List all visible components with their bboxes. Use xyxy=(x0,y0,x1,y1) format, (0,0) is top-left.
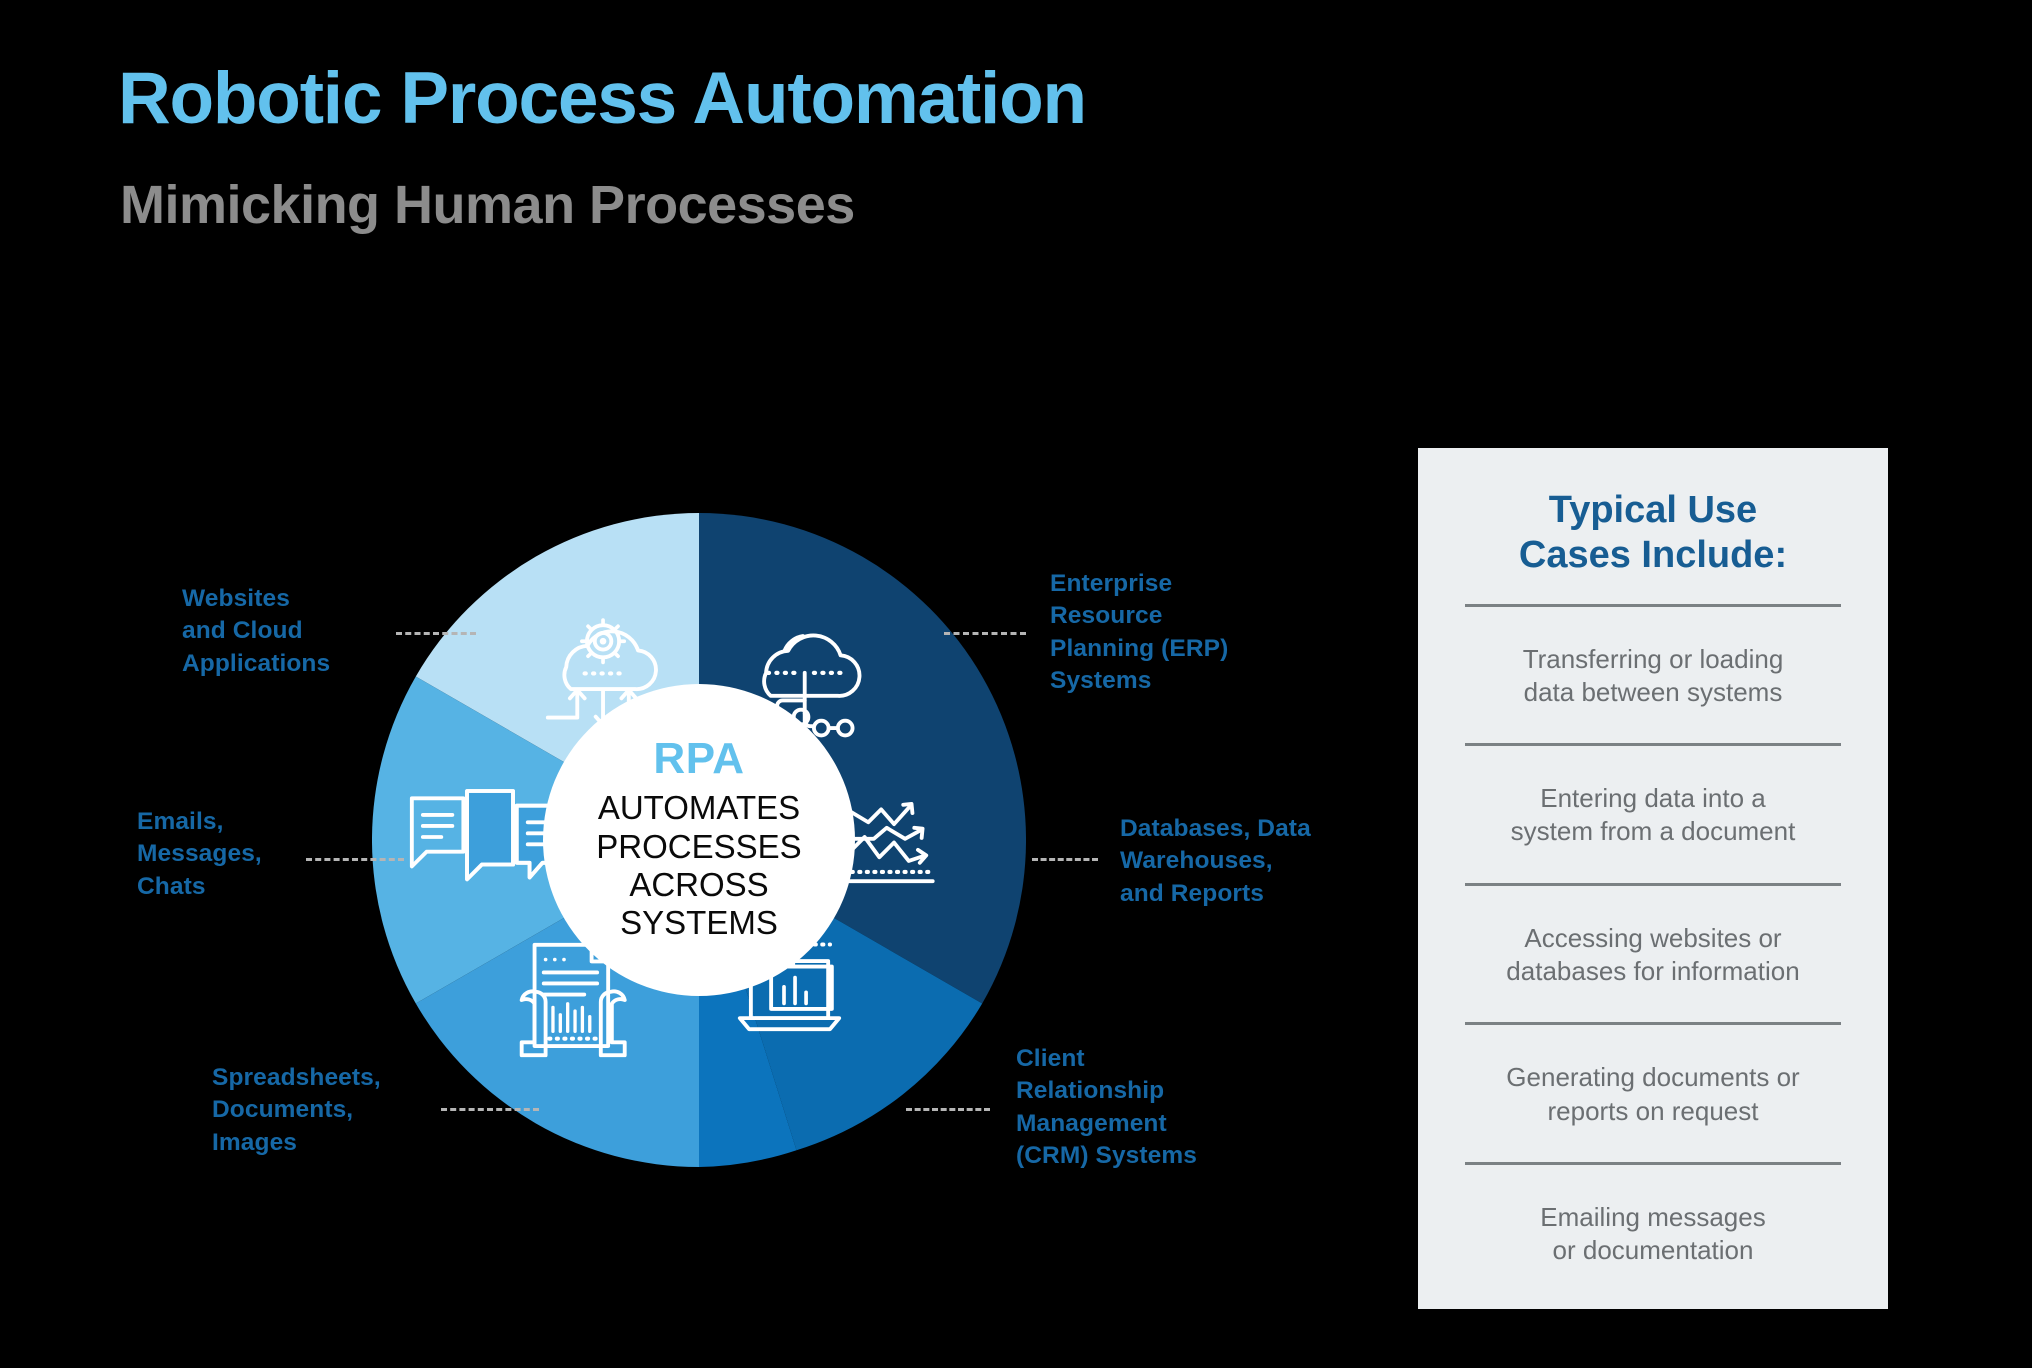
hub-title: RPA xyxy=(653,737,744,781)
connector-databases xyxy=(1032,858,1098,861)
heading-line: Typical Use xyxy=(1462,488,1844,533)
use-case-line: Emailing messages xyxy=(1464,1201,1842,1234)
label-line: Chats xyxy=(137,871,367,903)
label-line: Planning (ERP) xyxy=(1050,633,1310,665)
label-spreadsheets-documents-images[interactable]: Spreadsheets, Documents, Images xyxy=(212,1062,452,1159)
use-cases-panel: Typical Use Cases Include: Transferring … xyxy=(1418,448,1888,1309)
label-crm-systems[interactable]: Client Relationship Management (CRM) Sys… xyxy=(1016,1043,1286,1172)
use-cases-heading: Typical Use Cases Include: xyxy=(1462,482,1844,604)
page-subtitle: Mimicking Human Processes xyxy=(120,178,855,232)
label-line: (CRM) Systems xyxy=(1016,1140,1286,1172)
label-line: Documents, xyxy=(212,1094,452,1126)
use-case-line: databases for information xyxy=(1464,955,1842,988)
hub-line-1: AUTOMATES xyxy=(596,789,801,827)
label-line: Applications xyxy=(182,648,412,680)
label-line: and Reports xyxy=(1120,878,1380,910)
label-databases-warehouses-reports[interactable]: Databases, Data Warehouses, and Reports xyxy=(1120,813,1380,910)
page-title: Robotic Process Automation xyxy=(118,62,1086,135)
label-line: Enterprise xyxy=(1050,568,1310,600)
label-line: Client xyxy=(1016,1043,1286,1075)
label-line: Management xyxy=(1016,1108,1286,1140)
use-case-item[interactable]: Generating documents or reports on reque… xyxy=(1462,1025,1844,1162)
label-line: Warehouses, xyxy=(1120,845,1380,877)
use-case-line: reports on request xyxy=(1464,1095,1842,1128)
rpa-wheel: RPA AUTOMATES PROCESSES ACROSS SYSTEMS xyxy=(372,513,1026,1167)
label-line: Spreadsheets, xyxy=(212,1062,452,1094)
wheel-center-hub: RPA AUTOMATES PROCESSES ACROSS SYSTEMS xyxy=(543,684,855,996)
label-line: Databases, Data xyxy=(1120,813,1380,845)
label-line: Relationship xyxy=(1016,1075,1286,1107)
use-case-line: Accessing websites or xyxy=(1464,922,1842,955)
use-case-line: Transferring or loading xyxy=(1464,643,1842,676)
use-case-line: Entering data into a xyxy=(1464,782,1842,815)
infographic-canvas: Robotic Process Automation Mimicking Hum… xyxy=(0,0,2032,1368)
use-case-line: data between systems xyxy=(1464,676,1842,709)
label-line: Messages, xyxy=(137,838,367,870)
use-case-item[interactable]: Transferring or loading data between sys… xyxy=(1462,607,1844,744)
heading-line: Cases Include: xyxy=(1462,533,1844,578)
use-case-item[interactable]: Accessing websites or databases for info… xyxy=(1462,886,1844,1023)
use-case-item[interactable]: Emailing messages or documentation xyxy=(1462,1165,1844,1302)
connector-spreadsheets-documents-images xyxy=(441,1108,539,1111)
use-case-line: Generating documents or xyxy=(1464,1061,1842,1094)
label-line: Systems xyxy=(1050,665,1310,697)
use-case-item[interactable]: Entering data into a system from a docum… xyxy=(1462,746,1844,883)
label-line: and Cloud xyxy=(182,615,412,647)
hub-line-4: SYSTEMS xyxy=(596,904,801,942)
connector-crm-systems xyxy=(906,1108,990,1111)
use-case-line: system from a document xyxy=(1464,815,1842,848)
hub-line-3: ACROSS xyxy=(596,866,801,904)
label-websites-cloud[interactable]: Websites and Cloud Applications xyxy=(182,583,412,680)
label-line: Websites xyxy=(182,583,412,615)
label-emails-messages-chats[interactable]: Emails, Messages, Chats xyxy=(137,806,367,903)
label-line: Resource xyxy=(1050,600,1310,632)
label-erp-systems[interactable]: Enterprise Resource Planning (ERP) Syste… xyxy=(1050,568,1310,697)
hub-line-2: PROCESSES xyxy=(596,828,801,866)
use-case-line: or documentation xyxy=(1464,1234,1842,1267)
label-line: Emails, xyxy=(137,806,367,838)
hub-subtitle: AUTOMATES PROCESSES ACROSS SYSTEMS xyxy=(596,789,801,942)
connector-erp-systems xyxy=(944,632,1026,635)
label-line: Images xyxy=(212,1127,452,1159)
